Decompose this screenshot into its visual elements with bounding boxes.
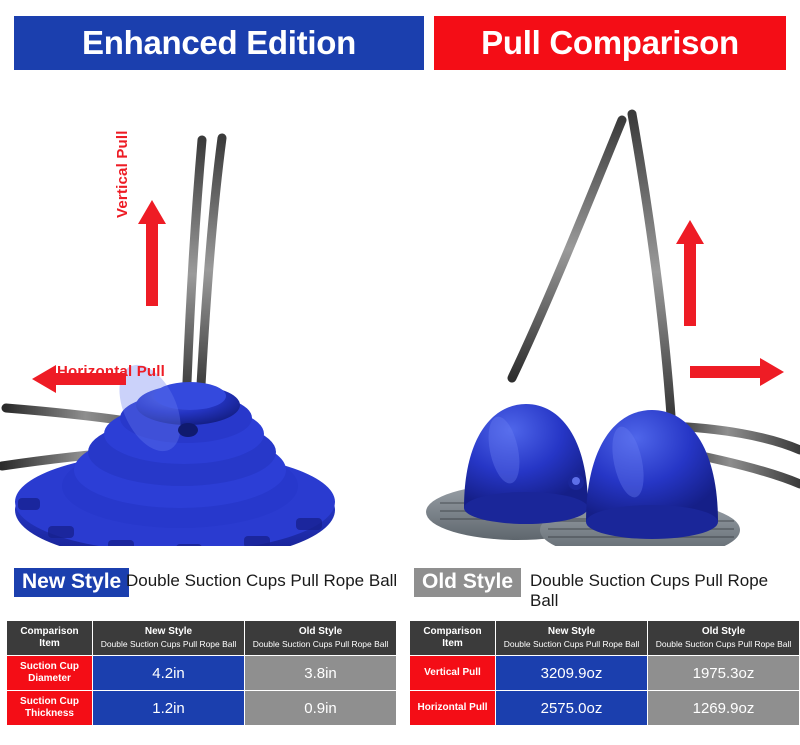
style-titles-row: New Style Double Suction Cups Pull Rope … <box>0 568 800 606</box>
header-left-title: Enhanced Edition <box>14 16 424 70</box>
old-style-arrows <box>400 78 800 546</box>
row-label-line1: Suction Cup <box>20 661 79 672</box>
row-old-value: 1975.3oz <box>648 656 800 691</box>
header-right-title: Pull Comparison <box>434 16 786 70</box>
old-style-tag: Old Style <box>414 568 521 597</box>
dimension-comparison-table: Comparison Item New Style Double Suction… <box>6 620 397 726</box>
pull-force-comparison-table: Comparison Item New Style Double Suction… <box>409 620 800 726</box>
header-comparison-item-line1: Comparison <box>410 626 495 639</box>
old-style-photo: Vertical Pull Horizontal Pull <box>400 78 800 546</box>
header-comparison-item-line2: Item <box>410 638 495 651</box>
row-old-value: 0.9in <box>245 691 397 726</box>
product-photo-area: Vertical Pull Horizontal Pull <box>0 78 800 546</box>
header-new-style: New Style Double Suction Cups Pull Rope … <box>93 621 245 656</box>
new-style-photo: Vertical Pull Horizontal Pull <box>0 78 400 546</box>
row-label-line2: Diameter <box>28 673 71 684</box>
header-new-style-line2: Double Suction Cups Pull Rope Ball <box>496 639 647 650</box>
row-label: Suction Cup Thickness <box>7 691 93 726</box>
row-label: Suction Cup Diameter <box>7 656 93 691</box>
table-header-row: Comparison Item New Style Double Suction… <box>410 621 800 656</box>
new-style-arrows <box>0 78 400 546</box>
new-style-description: Double Suction Cups Pull Rope Ball <box>126 571 397 591</box>
row-old-value: 3.8in <box>245 656 397 691</box>
header-old-style-line1: Old Style <box>648 626 799 639</box>
header-gap <box>424 16 434 70</box>
old-style-description: Double Suction Cups Pull Rope Ball <box>530 571 800 611</box>
header-old-style-line2: Double Suction Cups Pull Rope Ball <box>245 639 396 650</box>
header-old-style: Old Style Double Suction Cups Pull Rope … <box>245 621 397 656</box>
header-new-style-line1: New Style <box>496 626 647 639</box>
header-old-style-line2: Double Suction Cups Pull Rope Ball <box>648 639 799 650</box>
header-comparison-item: Comparison Item <box>410 621 496 656</box>
header-old-style: Old Style Double Suction Cups Pull Rope … <box>648 621 800 656</box>
row-old-value: 1269.9oz <box>648 691 800 726</box>
header-comparison-item: Comparison Item <box>7 621 93 656</box>
row-label: Horizontal Pull <box>410 691 496 726</box>
table-row: Horizontal Pull 2575.0oz 1269.9oz <box>410 691 800 726</box>
header-new-style: New Style Double Suction Cups Pull Rope … <box>496 621 648 656</box>
table-row: Suction Cup Diameter 4.2in 3.8in <box>7 656 397 691</box>
new-style-vertical-pull-label: Vertical Pull <box>114 130 131 218</box>
row-label: Vertical Pull <box>410 656 496 691</box>
header-old-style-line1: Old Style <box>245 626 396 639</box>
header-new-style-line2: Double Suction Cups Pull Rope Ball <box>93 639 244 650</box>
header-new-style-line1: New Style <box>93 626 244 639</box>
row-label-line2: Thickness <box>25 708 74 719</box>
row-new-value: 1.2in <box>93 691 245 726</box>
row-label-line1: Suction Cup <box>20 696 79 707</box>
header-comparison-item-line1: Comparison <box>7 626 92 639</box>
row-new-value: 3209.9oz <box>496 656 648 691</box>
table-row: Vertical Pull 3209.9oz 1975.3oz <box>410 656 800 691</box>
table-row: Suction Cup Thickness 1.2in 0.9in <box>7 691 397 726</box>
new-style-tag: New Style <box>14 568 129 597</box>
row-new-value: 2575.0oz <box>496 691 648 726</box>
header-comparison-item-line2: Item <box>7 638 92 651</box>
table-header-row: Comparison Item New Style Double Suction… <box>7 621 397 656</box>
new-style-horizontal-pull-label: Horizontal Pull <box>57 363 165 380</box>
row-new-value: 4.2in <box>93 656 245 691</box>
header-banner: Enhanced Edition Pull Comparison <box>14 16 786 70</box>
